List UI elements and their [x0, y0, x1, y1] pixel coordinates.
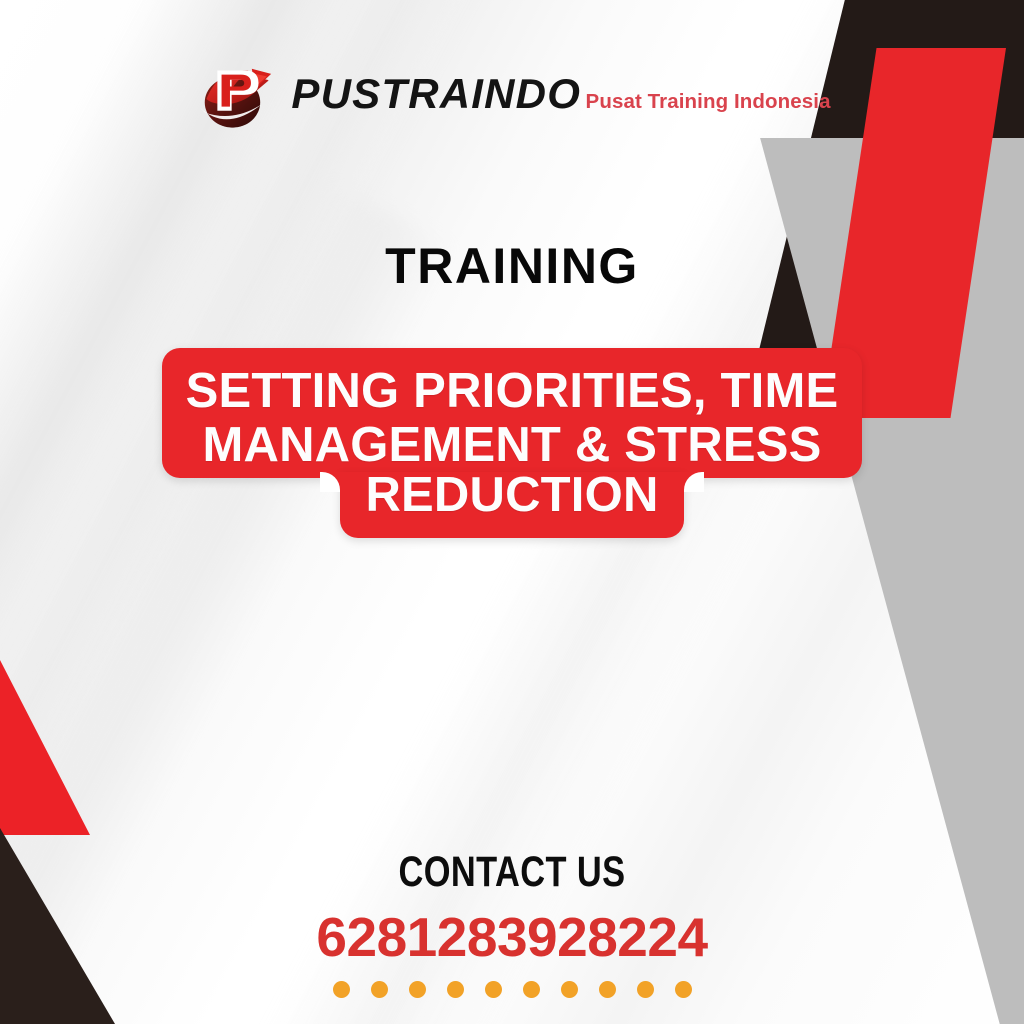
brand-wordmark: PUSTRAINDO Pusat Training Indonesia: [291, 73, 830, 115]
decorative-dot: [599, 981, 616, 998]
contact-section: CONTACT US 6281283928224: [0, 848, 1024, 998]
contact-phone-number[interactable]: 6281283928224: [0, 905, 1024, 969]
decorative-dot: [371, 981, 388, 998]
decorative-dot: [637, 981, 654, 998]
title-banner-main-block: SETTING PRIORITIES, TIME MANAGEMENT & ST…: [162, 348, 862, 478]
decorative-dot: [333, 981, 350, 998]
decorative-dot: [561, 981, 578, 998]
brand-name: PUSTRAINDO: [291, 70, 581, 117]
decorative-dot: [409, 981, 426, 998]
decorative-dot: [523, 981, 540, 998]
decorative-dot: [675, 981, 692, 998]
pustraindo-globe-arrow-p-logo-icon: [193, 52, 277, 136]
poster-canvas: PUSTRAINDO Pusat Training Indonesia TRAI…: [0, 0, 1024, 1024]
decorative-dot: [447, 981, 464, 998]
page-kicker: TRAINING: [0, 237, 1024, 295]
contact-label: CONTACT US: [102, 848, 921, 897]
brand-header: PUSTRAINDO Pusat Training Indonesia: [0, 52, 1024, 136]
decorative-dot-row: [0, 981, 1024, 998]
brand-tagline: Pusat Training Indonesia: [586, 90, 831, 113]
title-line-2: MANAGEMENT & STRESS: [180, 418, 844, 472]
title-line-3: REDUCTION: [350, 468, 674, 522]
title-line-1: SETTING PRIORITIES, TIME: [180, 364, 844, 418]
decorative-dot: [485, 981, 502, 998]
title-banner: SETTING PRIORITIES, TIME MANAGEMENT & ST…: [0, 348, 1024, 538]
title-banner-tail-block: REDUCTION: [340, 472, 684, 538]
banner-notch-left: [320, 472, 340, 492]
banner-notch-right: [684, 472, 704, 492]
